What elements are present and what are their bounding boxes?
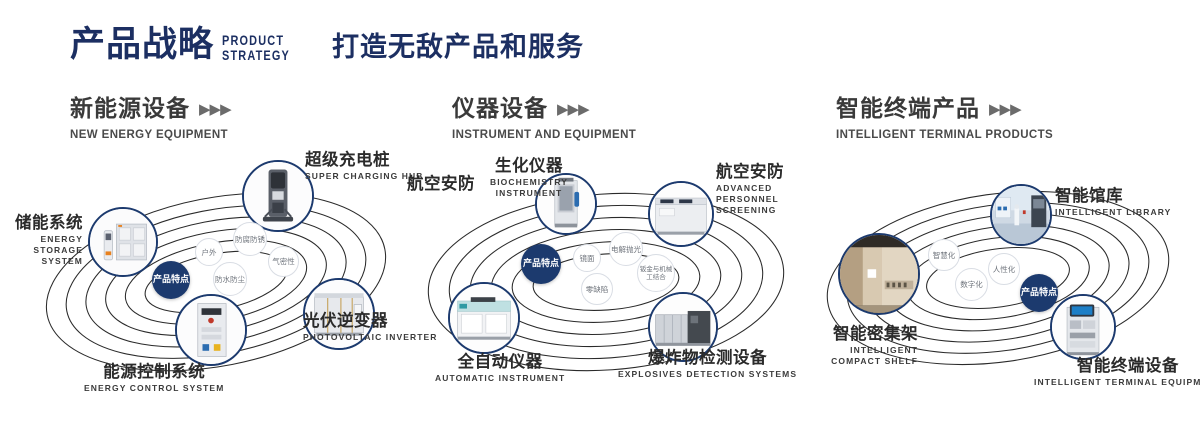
label-cn: 智能终端设备: [1034, 356, 1200, 375]
feature-bubble-label: 电解抛光: [611, 245, 641, 254]
section-heading-cn: 仪器设备▶▶▶: [452, 98, 636, 121]
label-cn: 智能馆库: [1055, 186, 1171, 205]
intelligent-library-photo: [992, 186, 1050, 244]
energy-control-system-photo: [177, 296, 245, 364]
label-cn: 航空安防: [716, 162, 808, 181]
core-bubble-product-features: 产品特点: [1020, 274, 1058, 312]
feature-bubble-airtightness: 气密性: [268, 246, 299, 277]
label-en: INTELLIGENT LIBRARY: [1055, 207, 1171, 218]
feature-bubble-mirror-finish: 镜面: [573, 244, 601, 272]
node-intelligent-library[interactable]: [990, 184, 1052, 246]
label-en: INTELLIGENT COMPACT SHELF: [800, 345, 918, 367]
feature-bubble-zero-defect: 零缺陷: [581, 273, 613, 305]
advanced-personnel-screening-photo: [650, 183, 712, 245]
feature-bubble-label: 人性化: [993, 265, 1016, 274]
section-heading-cn-text: 新能源设备: [70, 96, 190, 122]
label-super-charging-hub: 超级充电桩 SUPER CHARGING HUB: [305, 150, 424, 182]
section-heading-cn-text: 智能终端产品: [836, 96, 980, 122]
section-heading-cn-text: 仪器设备: [452, 96, 548, 122]
label-en: ADVANCED PERSONNEL SCREENING: [716, 183, 808, 216]
label-cn: 全自动仪器: [435, 352, 565, 371]
chevron-right-icon: ▶▶▶: [557, 102, 589, 117]
node-intelligent-compact-shelf[interactable]: [838, 233, 920, 315]
section-heading-en: INSTRUMENT AND EQUIPMENT: [452, 129, 636, 141]
page-title-english-line2: STRATEGY: [222, 48, 290, 63]
label-en: EXPLOSIVES DETECTION SYSTEMS: [618, 369, 797, 380]
label-biochemistry-instrument: 生化仪器 BIOCHEMISTRY INSTRUMENT: [464, 156, 594, 199]
label-intelligent-compact-shelf: 智能密集架 INTELLIGENT COMPACT SHELF: [800, 324, 918, 367]
label-en: BIOCHEMISTRY INSTRUMENT: [464, 177, 594, 199]
feature-bubble-waterproof: 防水防尘: [213, 262, 247, 296]
label-explosives-detection-systems: 爆炸物检测设备 EXPLOSIVES DETECTION SYSTEMS: [618, 348, 797, 380]
chevron-right-icon: ▶▶▶: [989, 102, 1021, 117]
core-bubble-label: 产品特点: [153, 275, 189, 286]
poster-header: 产品战略 PRODUCT STRATEGY 打造无敌产品和服务: [0, 0, 1200, 92]
section-heading-cn: 新能源设备▶▶▶: [70, 98, 231, 121]
label-en: INTELLIGENT TERMINAL EQUIPMENT: [1034, 377, 1200, 388]
label-cn: 生化仪器: [464, 156, 594, 175]
page-title: 产品战略: [70, 28, 214, 63]
label-energy-control-system: 能源控制系统 ENERGY CONTROL SYSTEM: [84, 362, 224, 394]
diagram-group-new-energy: 产品特点 户外 防腐防锈 防水防尘 气密性 储能系统 ENERGY STORAG…: [20, 150, 420, 400]
label-intelligent-terminal-equipment: 智能终端设备 INTELLIGENT TERMINAL EQUIPMENT: [1034, 356, 1200, 388]
intelligent-terminal-equipment-photo: [1052, 296, 1114, 358]
core-bubble-product-features: 产品特点: [152, 261, 190, 299]
label-advanced-personnel-screening: 航空安防 ADVANCED PERSONNEL SCREENING: [716, 162, 808, 216]
super-charging-hub-photo: [244, 162, 312, 230]
section-heading-en: INTELLIGENT TERMINAL PRODUCTS: [836, 129, 1053, 141]
feature-bubble-label: 零缺陷: [586, 285, 609, 294]
feature-bubble-smart: 智慧化: [928, 239, 960, 271]
label-cn: 爆炸物检测设备: [618, 348, 797, 367]
feature-bubble-anticorrosion: 防腐防锈: [233, 222, 267, 256]
core-bubble-label: 产品特点: [523, 259, 559, 270]
section-heading-cn: 智能终端产品▶▶▶: [836, 98, 1053, 121]
label-automatic-instrument: 全自动仪器 AUTOMATIC INSTRUMENT: [435, 352, 565, 384]
label-intelligent-library: 智能馆库 INTELLIGENT LIBRARY: [1055, 186, 1171, 218]
diagram-group-instrument: 产品特点 镜面 电解抛光 零缺陷 钣金与机械工结合 航空安防 生化仪器 BIOC…: [408, 150, 808, 400]
section-heading-new-energy: 新能源设备▶▶▶ NEW ENERGY EQUIPMENT: [70, 98, 231, 141]
feature-bubble-humanized: 人性化: [988, 253, 1020, 285]
node-intelligent-terminal-equipment[interactable]: [1050, 294, 1116, 360]
feature-bubble-label: 钣金与机械工结合: [638, 265, 674, 281]
page-title-english: PRODUCT STRATEGY: [222, 33, 290, 63]
node-super-charging-hub[interactable]: [242, 160, 314, 232]
core-bubble-product-features: 产品特点: [521, 244, 561, 284]
automatic-instrument-photo: [450, 284, 518, 352]
feature-bubble-label: 防腐防锈: [235, 235, 265, 244]
chevron-right-icon: ▶▶▶: [199, 102, 231, 117]
diagram-group-intelligent-terminal: 智慧化 数字化 人性化 产品特点 智能馆库 INTELLIGENT LIBRAR…: [800, 150, 1200, 400]
node-advanced-personnel-screening[interactable]: [648, 181, 714, 247]
section-heading-en: NEW ENERGY EQUIPMENT: [70, 129, 231, 141]
feature-bubble-sheetmetal-machining: 钣金与机械工结合: [637, 254, 675, 292]
feature-bubble-outdoor: 户外: [195, 238, 223, 266]
label-energy-storage-system: 储能系统 ENERGY STORAGE SYSTEM: [0, 213, 83, 267]
energy-storage-system-photo: [90, 209, 156, 275]
feature-bubble-label: 数字化: [960, 280, 983, 289]
label-cn: 储能系统: [0, 213, 83, 232]
feature-bubble-digital: 数字化: [955, 268, 988, 301]
section-heading-intelligent-terminal: 智能终端产品▶▶▶ INTELLIGENT TERMINAL PRODUCTS: [836, 98, 1053, 141]
label-en: ENERGY CONTROL SYSTEM: [84, 383, 224, 394]
page-title-english-line1: PRODUCT: [222, 33, 290, 48]
page-subtitle: 打造无敌产品和服务: [332, 34, 584, 61]
label-cn: 能源控制系统: [84, 362, 224, 381]
node-automatic-instrument[interactable]: [448, 282, 520, 354]
core-bubble-label: 产品特点: [1021, 288, 1057, 299]
label-en: AUTOMATIC INSTRUMENT: [435, 373, 565, 384]
node-energy-control-system[interactable]: [175, 294, 247, 366]
feature-bubble-label: 防水防尘: [215, 275, 245, 284]
label-cn: 智能密集架: [800, 324, 918, 343]
node-energy-storage-system[interactable]: [88, 207, 158, 277]
feature-bubble-electropolishing: 电解抛光: [609, 232, 643, 266]
feature-bubble-label: 智慧化: [933, 251, 956, 260]
intelligent-compact-shelf-photo: [840, 235, 918, 313]
feature-bubble-label: 户外: [202, 248, 217, 257]
label-cn: 超级充电桩: [305, 150, 424, 169]
poster-canvas: 产品战略 PRODUCT STRATEGY 打造无敌产品和服务 新能源设备▶▶▶…: [0, 0, 1200, 422]
label-en: ENERGY STORAGE SYSTEM: [0, 234, 83, 267]
section-heading-instrument: 仪器设备▶▶▶ INSTRUMENT AND EQUIPMENT: [452, 98, 636, 141]
feature-bubble-label: 气密性: [272, 257, 295, 266]
label-en: SUPER CHARGING HUB: [305, 171, 424, 182]
feature-bubble-label: 镜面: [580, 254, 595, 263]
